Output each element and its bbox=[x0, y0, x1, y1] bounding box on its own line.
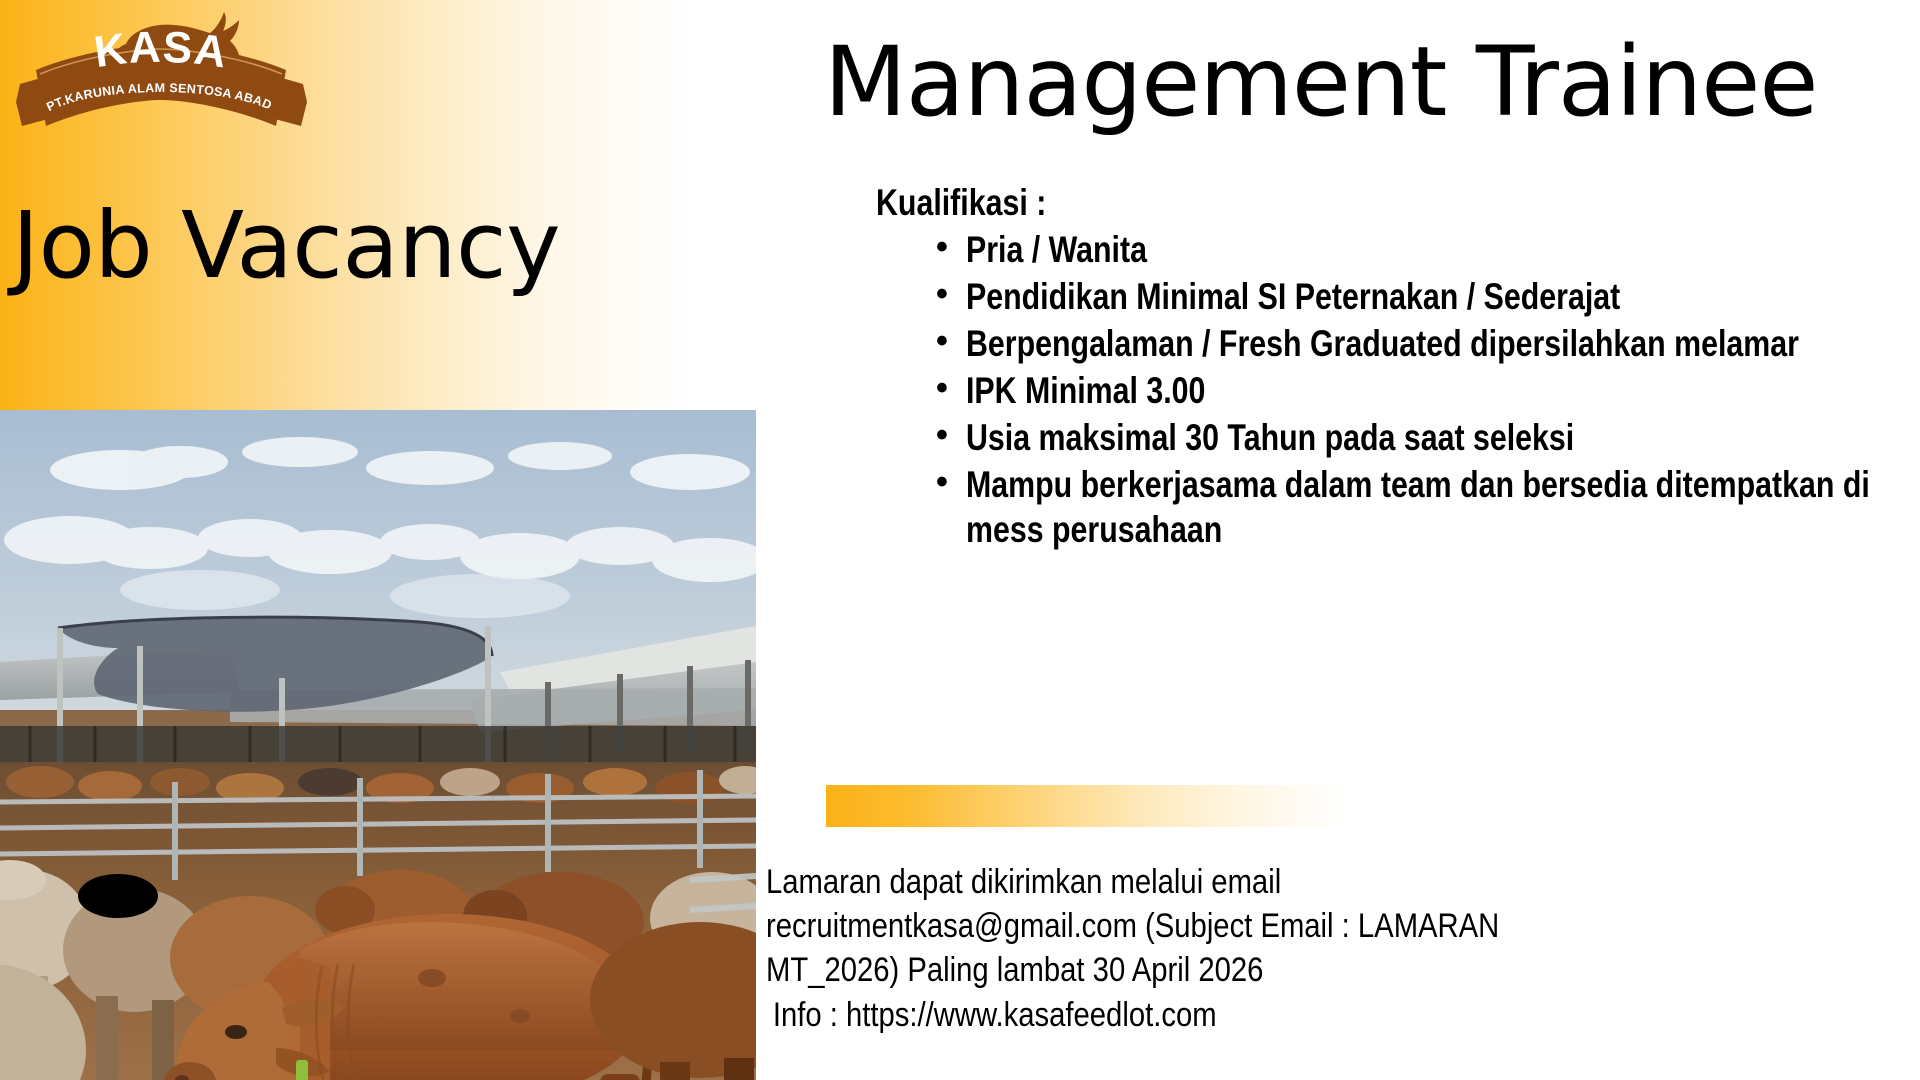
list-item: Berpengalaman / Fresh Graduated dipersil… bbox=[934, 321, 1896, 367]
list-item: Pendidikan Minimal SI Peternakan / Seder… bbox=[934, 274, 1896, 320]
job-vacancy-poster: KASA PT.KARUNIA ALAM SENTOSA ABADI Job V… bbox=[0, 0, 1920, 1080]
qualifications-section: Kualifikasi : Pria / Wanita Pendidikan M… bbox=[876, 180, 1896, 554]
contact-line-3: MT_2026) Paling lambat 30 April 2026 bbox=[766, 948, 1729, 992]
right-content-panel: Management Trainee Kualifikasi : Pria / … bbox=[756, 0, 1920, 1080]
list-item: Pria / Wanita bbox=[934, 227, 1896, 273]
shed-shadow-band bbox=[0, 726, 756, 768]
qualification-text: Berpengalaman / Fresh Graduated dipersil… bbox=[966, 321, 1896, 367]
qualification-text: Pendidikan Minimal SI Peternakan / Seder… bbox=[966, 274, 1896, 320]
page-title: Management Trainee bbox=[824, 32, 1894, 133]
gradient-divider-bar bbox=[826, 785, 1356, 827]
qualification-text: Mampu berkerjasama dalam team dan bersed… bbox=[966, 462, 1896, 554]
qualification-text: Pria / Wanita bbox=[966, 227, 1896, 273]
qualifications-heading: Kualifikasi : bbox=[876, 180, 1712, 225]
logo-svg: KASA PT.KARUNIA ALAM SENTOSA ABADI bbox=[14, 6, 309, 166]
kasa-cow-logo: KASA PT.KARUNIA ALAM SENTOSA ABADI bbox=[14, 6, 309, 166]
contact-line-2: recruitmentkasa@gmail.com (Subject Email… bbox=[766, 904, 1729, 948]
list-item: IPK Minimal 3.00 bbox=[934, 368, 1896, 414]
contact-line-4: Info : https://www.kasafeedlot.com bbox=[766, 993, 1729, 1037]
list-item: Usia maksimal 30 Tahun pada saat seleksi bbox=[934, 415, 1896, 461]
list-item: Mampu berkerjasama dalam team dan bersed… bbox=[934, 462, 1896, 554]
job-vacancy-title: Job Vacancy bbox=[12, 200, 560, 292]
cattle-feedlot-photo bbox=[0, 410, 756, 1080]
qualification-text: Usia maksimal 30 Tahun pada saat seleksi bbox=[966, 415, 1896, 461]
photo-artwork bbox=[0, 410, 756, 1080]
contact-section: Lamaran dapat dikirimkan melalui email r… bbox=[766, 860, 1886, 1037]
qualifications-list: Pria / Wanita Pendidikan Minimal SI Pete… bbox=[934, 227, 1896, 553]
left-gradient-panel: KASA PT.KARUNIA ALAM SENTOSA ABADI Job V… bbox=[0, 0, 756, 410]
contact-line-1: Lamaran dapat dikirimkan melalui email bbox=[766, 860, 1729, 904]
qualification-text: IPK Minimal 3.00 bbox=[966, 368, 1896, 414]
